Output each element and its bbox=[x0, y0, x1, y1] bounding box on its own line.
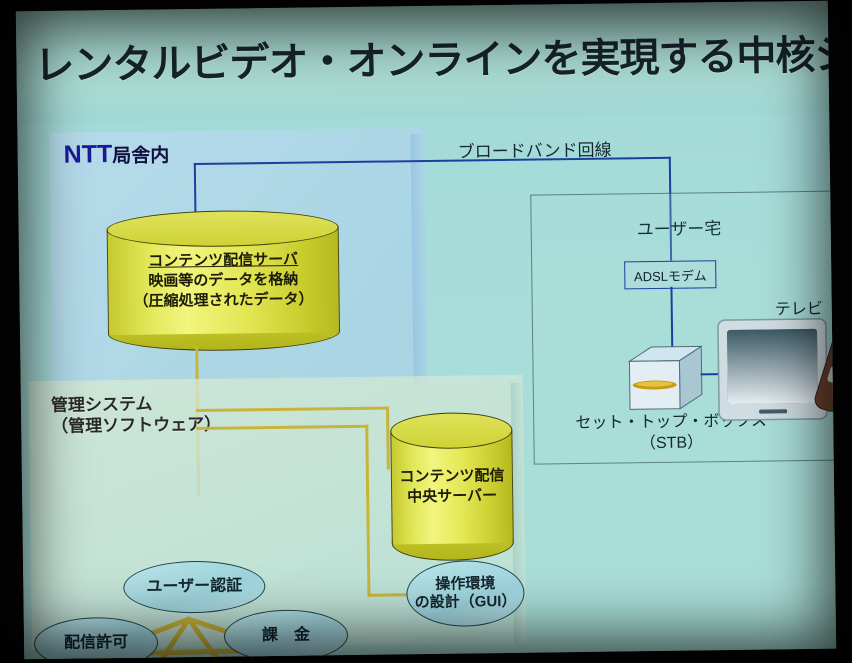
node-user-auth-label: ユーザー認証 bbox=[146, 577, 242, 597]
stb-label-line2: （STB） bbox=[640, 434, 703, 452]
server-title: コンテンツ配信サーバ bbox=[148, 251, 298, 270]
central-delivery-server-text: コンテンツ配信 中央サーバー bbox=[391, 466, 514, 507]
broadband-label: ブロードバンド回線 bbox=[457, 136, 611, 163]
central-server-line1: コンテンツ配信 bbox=[399, 467, 504, 485]
server-desc-2: （圧縮処理されたデータ） bbox=[133, 290, 313, 309]
diagram-canvas: NTT局舎内 ブロードバンド回線 コンテンツ配信サーバ 映画等のデータを格納 （… bbox=[17, 113, 836, 660]
ntt-office-sub-text: 局舎内 bbox=[112, 145, 169, 167]
node-billing[interactable]: 課 金 bbox=[224, 609, 349, 659]
server-desc-1: 映画等のデータを格納 bbox=[148, 271, 298, 290]
presentation-slide: レンタルビデオ・オンラインを実現する中核システム NTT局舎内 ブロードバンド回… bbox=[16, 1, 836, 660]
node-gui-design-label: 操作環境 の設計（GUI） bbox=[414, 575, 516, 612]
node-billing-label: 課 金 bbox=[262, 626, 310, 646]
adsl-modem-label: ADSLモデム bbox=[634, 265, 707, 285]
central-delivery-server-cylinder: コンテンツ配信 中央サーバー bbox=[390, 412, 514, 562]
title-band: レンタルビデオ・オンラインを実現する中核システム bbox=[16, 1, 829, 124]
gui-line2: の設計（GUI） bbox=[415, 593, 517, 611]
television-graphic bbox=[710, 312, 836, 444]
content-delivery-server-cylinder: コンテンツ配信サーバ 映画等のデータを格納 （圧縮処理されたデータ） bbox=[106, 209, 340, 352]
ntt-office-label: NTT局舎内 bbox=[63, 139, 169, 169]
central-server-line2: 中央サーバー bbox=[407, 487, 497, 505]
page-title: レンタルビデオ・オンラインを実現する中核システム bbox=[34, 23, 825, 91]
set-top-box bbox=[625, 344, 716, 411]
user-home-label: ユーザー宅 bbox=[637, 214, 722, 240]
adsl-modem-box: ADSLモデム bbox=[624, 260, 716, 289]
projector-photo-frame: レンタルビデオ・オンラインを実現する中核システム NTT局舎内 ブロードバンド回… bbox=[0, 0, 852, 663]
ntt-brand-text: NTT bbox=[63, 140, 112, 169]
node-delivery-permit-label: 配信許可 bbox=[64, 633, 128, 653]
stb-shape bbox=[625, 344, 722, 417]
ntt-office-panel-edge bbox=[410, 134, 427, 384]
gui-line1: 操作環境 bbox=[435, 575, 495, 593]
content-delivery-server-text: コンテンツ配信サーバ 映画等のデータを格納 （圧縮処理されたデータ） bbox=[107, 249, 340, 311]
